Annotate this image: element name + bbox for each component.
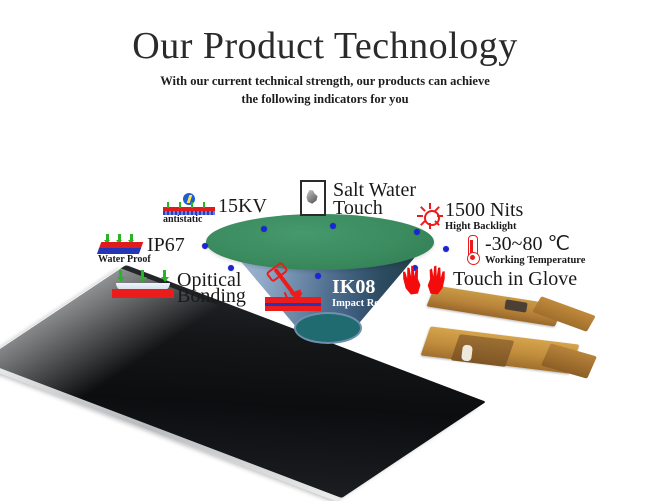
feature-waterproof[interactable]: IP67 Water Proof — [98, 233, 185, 265]
fpc-cable-top-connector — [532, 296, 596, 332]
feature-optical-bonding[interactable]: Opitical Bonding — [112, 270, 246, 307]
page-title: Our Product Technology — [0, 26, 650, 68]
node-point — [330, 223, 336, 229]
salt-water-touch-subtitle: Touch — [333, 198, 416, 219]
feature-impact-resistance[interactable]: IK08 Impact Resistance — [265, 267, 414, 313]
feature-antistatic[interactable]: 15KV antistatic — [163, 194, 267, 225]
waterproof-value: IP67 — [147, 235, 185, 256]
fpc-cable-bottom-connector — [541, 343, 597, 378]
salt-water-touch-icon — [300, 180, 326, 216]
page-subtitle: With our current technical strength, our… — [155, 72, 495, 108]
node-point — [261, 226, 267, 232]
node-point — [202, 243, 208, 249]
feature-high-backlight[interactable]: 1500 Nits Hight Backlight — [418, 200, 523, 233]
impact-icon — [265, 267, 327, 313]
node-point — [443, 246, 449, 252]
funnel-base-ellipse — [294, 312, 362, 344]
sun-icon — [418, 204, 442, 228]
feature-salt-water-touch[interactable]: Salt Water Touch — [300, 180, 416, 219]
working-temperature-value: -30~80 ℃ — [485, 234, 585, 255]
high-backlight-value: 1500 Nits — [445, 200, 523, 221]
waterproof-icon — [98, 233, 144, 257]
high-backlight-caption: Hight Backlight — [445, 221, 523, 233]
impact-resistance-caption: Impact Resistance — [332, 298, 414, 310]
impact-resistance-value: IK08 — [332, 277, 414, 298]
feature-touch-in-glove[interactable]: Touch in Glove — [402, 262, 577, 296]
antistatic-value: 15KV — [218, 196, 267, 217]
optical-bonding-icon — [112, 270, 174, 300]
product-technology-infographic: Our Product Technology With our current … — [0, 0, 650, 493]
touch-in-glove-title: Touch in Glove — [453, 269, 577, 290]
thermometer-icon — [464, 235, 480, 265]
antistatic-icon — [163, 194, 215, 218]
optical-bonding-subtitle: Bonding — [177, 286, 246, 307]
